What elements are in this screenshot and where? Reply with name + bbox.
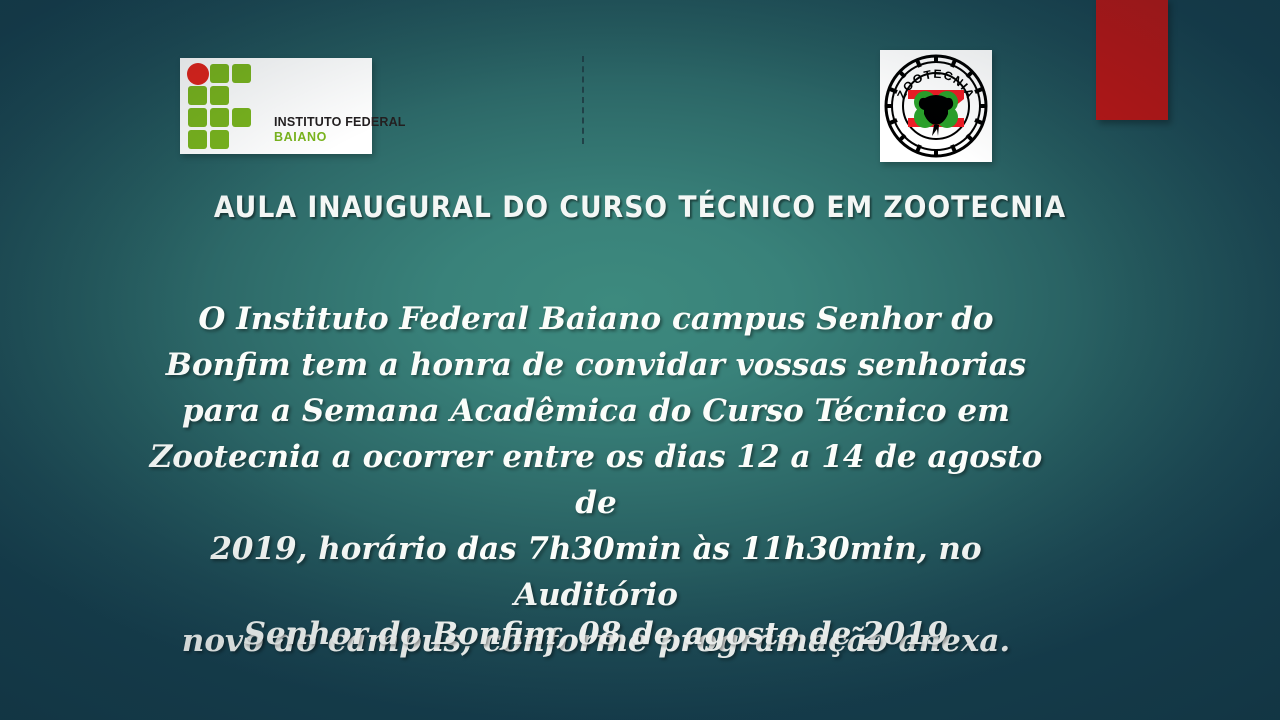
if-logo-square	[232, 108, 251, 127]
presentation-slide: INSTITUTO FEDERAL BAIANO	[0, 0, 1280, 720]
zootecnia-seal-svg: ZOOTECNIA	[880, 50, 992, 162]
if-logo-text-baiano: BAIANO	[274, 130, 327, 144]
if-logo-square	[188, 108, 207, 127]
if-logo-text-instituto-federal: INSTITUTO FEDERAL	[274, 115, 406, 129]
if-logo-square	[210, 108, 229, 127]
body-line: Zootecnia a ocorrer entre os dias 12 a 1…	[140, 434, 1052, 526]
if-logo-grid	[188, 64, 272, 148]
if-logo-red-circle	[187, 63, 209, 85]
if-logo-square	[188, 86, 207, 105]
zootecnia-seal-logo: ZOOTECNIA	[880, 50, 992, 162]
if-logo-square	[210, 130, 229, 149]
if-logo-square	[188, 130, 207, 149]
red-accent-rectangle	[1096, 0, 1168, 120]
body-line: 2019, horário das 7h30min às 11h30min, n…	[140, 526, 1052, 618]
seal-emblem	[908, 90, 964, 136]
signature-place-date: Senhor do Bonfim, 08 de agosto de 2019	[140, 612, 1052, 656]
if-logo-square	[210, 64, 229, 83]
instituto-federal-baiano-logo: INSTITUTO FEDERAL BAIANO	[180, 58, 372, 154]
body-line: Bonfim tem a honra de convidar vossas se…	[140, 342, 1052, 388]
if-logo-square	[210, 86, 229, 105]
body-line: para a Semana Acadêmica do Curso Técnico…	[140, 388, 1052, 434]
body-line: O Instituto Federal Baiano campus Senhor…	[140, 296, 1052, 342]
dashed-vertical-divider	[582, 56, 584, 144]
page-title: AULA INAUGURAL DO CURSO TÉCNICO EM ZOOTE…	[51, 190, 1229, 224]
if-logo-square	[232, 64, 251, 83]
invitation-body-text: O Instituto Federal Baiano campus Senhor…	[140, 296, 1052, 664]
